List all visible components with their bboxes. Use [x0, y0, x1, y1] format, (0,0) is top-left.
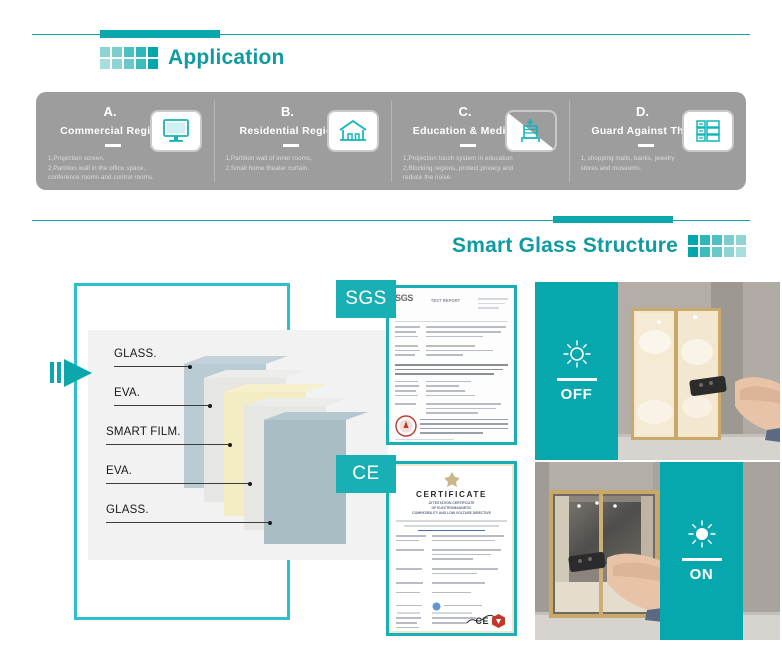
leader-line — [106, 483, 250, 484]
sun-outline-icon — [562, 339, 592, 369]
layer-label-eva-bottom: EVA. — [106, 465, 132, 477]
poster-page: Application A. Commercial Region 1,Proje… — [0, 0, 782, 654]
state-panel-on: ON — [660, 462, 743, 640]
sgs-certificate-document[interactable]: SGS TEST REPORT — [386, 285, 517, 445]
sgs-badge: SGS — [336, 280, 396, 318]
top-divider-bar — [100, 30, 220, 38]
state-label-off: OFF — [561, 386, 593, 403]
squares-decoration-left — [100, 47, 158, 69]
application-cards: A. Commercial Region 1,Projection screen… — [36, 92, 746, 190]
card-description: 1,Projection touch system in education 2… — [403, 154, 557, 183]
sun-filled-icon — [687, 519, 717, 549]
layer-label-eva-top: EVA. — [114, 387, 140, 399]
ce-doc-subtitle: ATTESTATION CERTIFICATE OF ELECTROMAGNET… — [396, 501, 507, 516]
structure-divider-bar — [553, 216, 673, 223]
card-rule — [638, 144, 654, 147]
page-title: Application — [168, 46, 285, 70]
layer-label-glass-bottom: GLASS. — [106, 504, 149, 516]
structure-title: Smart Glass Structure — [452, 234, 678, 258]
leader-line — [106, 444, 230, 445]
card-residential-region[interactable]: B. Residential Region 1,Partition wall o… — [214, 92, 392, 190]
card-description: 1,Partition wall of inner rooms, 2,Small… — [226, 154, 380, 173]
card-description: 1, shopping malls, banks, jewelry stores… — [581, 154, 735, 173]
sgs-doc-title: TEST REPORT — [431, 298, 460, 303]
layer-label-glass-top: GLASS. — [114, 348, 157, 360]
card-commercial-region[interactable]: A. Commercial Region 1,Projection screen… — [36, 92, 214, 190]
state-rule-off — [557, 378, 597, 381]
ce-mark: CE — [475, 616, 489, 626]
leader-line — [114, 405, 210, 406]
sgs-document-page: SGS TEST REPORT — [389, 288, 514, 442]
hospital-bed-icon — [505, 110, 557, 152]
leader-line — [114, 366, 190, 367]
card-description: 1,Projection screen. 2,Partition wall in… — [48, 154, 202, 183]
house-icon — [327, 110, 379, 152]
glass-layer-diagram: GLASS. EVA. SMART FILM. EVA. GLASS. — [88, 330, 388, 560]
card-guard-against-theft[interactable]: D. Guard Against Theft 1, shopping malls… — [569, 92, 747, 190]
card-rule — [105, 144, 121, 147]
monitor-icon — [150, 110, 202, 152]
safe-deposit-icon — [682, 110, 734, 152]
ce-inline-logo-icon — [432, 602, 441, 611]
leader-line — [106, 522, 270, 523]
ce-crest-icon — [442, 471, 462, 488]
sgs-seal-icon — [395, 415, 417, 437]
ce-doc-title: CERTIFICATE — [396, 490, 507, 499]
ce-document-page: CERTIFICATE ATTESTATION CERTIFICATE OF E… — [389, 464, 514, 633]
ce-badge: CE — [336, 455, 396, 493]
ce-red-logo-icon — [492, 614, 505, 628]
squares-decoration-right — [688, 235, 746, 257]
structure-header: Smart Glass Structure — [452, 234, 746, 258]
card-rule — [283, 144, 299, 147]
card-education-medical[interactable]: C. Education & Medical 1,Projection touc… — [391, 92, 569, 190]
clear-glass-door-photo — [535, 462, 780, 640]
ce-certificate-document[interactable]: CERTIFICATE ATTESTATION CERTIFICATE OF E… — [386, 461, 517, 636]
layer-label-smart-film: SMART FILM. — [106, 426, 181, 438]
state-panel-off: OFF — [535, 282, 618, 460]
application-header: Application — [100, 46, 285, 70]
state-label-on: ON — [690, 566, 714, 583]
state-rule-on — [682, 558, 722, 561]
card-rule — [460, 144, 476, 147]
sgs-doc-brand: SGS — [395, 293, 413, 303]
